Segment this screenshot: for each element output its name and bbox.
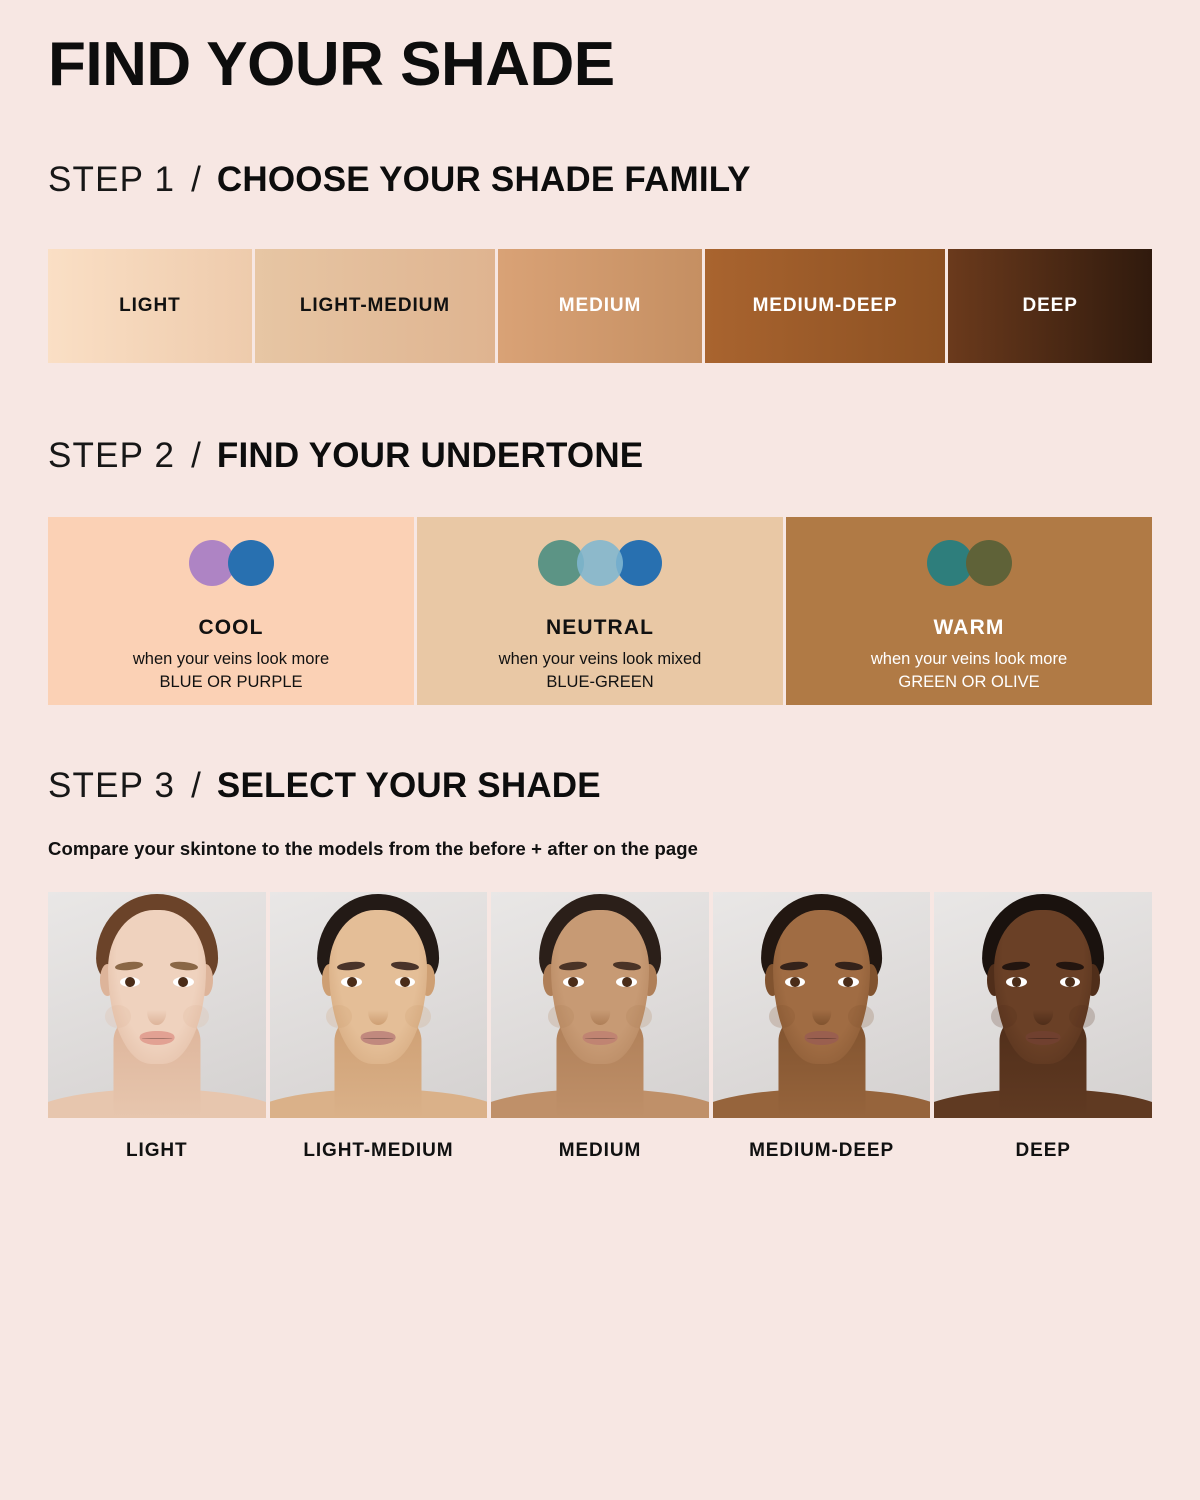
- undertone-panel-neutral[interactable]: NEUTRAL when your veins look mixed BLUE-…: [417, 517, 783, 705]
- model-label-light: LIGHT: [48, 1122, 266, 1162]
- model-label-medium: MEDIUM: [491, 1122, 709, 1162]
- undertone-desc-line1: when your veins look more: [871, 650, 1067, 668]
- shade-swatch-label: MEDIUM-DEEP: [753, 295, 898, 317]
- step-2-separator: /: [191, 436, 201, 476]
- undertone-desc-line1: when your veins look more: [133, 650, 329, 668]
- model-portrait-image: [270, 892, 488, 1118]
- light-blue-dot-icon: [577, 540, 623, 586]
- step-2-heading: STEP 2 / FIND YOUR UNDERTONE: [48, 436, 643, 476]
- undertone-panel-warm[interactable]: WARM when your veins look more GREEN OR …: [786, 517, 1152, 705]
- model-label-medium-deep: MEDIUM-DEEP: [713, 1122, 931, 1162]
- shade-swatch-light-medium[interactable]: LIGHT-MEDIUM: [255, 249, 495, 363]
- model-label-deep: DEEP: [934, 1122, 1152, 1162]
- undertone-desc-line2: BLUE OR PURPLE: [133, 671, 329, 694]
- undertone-panels: COOL when your veins look more BLUE OR P…: [48, 517, 1152, 705]
- model-label-row: LIGHT LIGHT-MEDIUM MEDIUM MEDIUM-DEEP DE…: [48, 1122, 1152, 1162]
- undertone-description: when your veins look mixed BLUE-GREEN: [499, 648, 702, 694]
- shade-swatch-light[interactable]: LIGHT: [48, 249, 252, 363]
- model-portrait-image: [934, 892, 1152, 1118]
- step-1-title: CHOOSE YOUR SHADE FAMILY: [217, 160, 751, 200]
- step-3-title: SELECT YOUR SHADE: [217, 766, 601, 806]
- model-photo-medium-deep[interactable]: [713, 892, 931, 1118]
- model-photo-medium[interactable]: [491, 892, 709, 1118]
- model-portrait-image: [491, 892, 709, 1118]
- step-1-heading: STEP 1 / CHOOSE YOUR SHADE FAMILY: [48, 160, 751, 200]
- model-portrait-image: [713, 892, 931, 1118]
- shade-swatch-label: LIGHT-MEDIUM: [300, 295, 450, 317]
- model-photo-light[interactable]: [48, 892, 266, 1118]
- blue-dot-icon: [228, 540, 274, 586]
- shade-swatch-label: MEDIUM: [559, 295, 641, 317]
- olive-dot-icon: [966, 540, 1012, 586]
- step-1-label: STEP 1: [48, 160, 175, 200]
- shade-swatch-label: LIGHT: [119, 295, 181, 317]
- step-1-separator: /: [191, 160, 201, 200]
- undertone-desc-line2: GREEN OR OLIVE: [871, 671, 1067, 694]
- model-label-light-medium: LIGHT-MEDIUM: [270, 1122, 488, 1162]
- model-photo-row: [48, 892, 1152, 1118]
- undertone-desc-line1: when your veins look mixed: [499, 650, 702, 668]
- shade-swatch-label: DEEP: [1022, 295, 1077, 317]
- step-2-title: FIND YOUR UNDERTONE: [217, 436, 643, 476]
- undertone-description: when your veins look more BLUE OR PURPLE: [133, 648, 329, 694]
- model-photo-light-medium[interactable]: [270, 892, 488, 1118]
- compare-note: Compare your skintone to the models from…: [48, 838, 698, 860]
- undertone-name: WARM: [934, 616, 1005, 640]
- model-portrait-image: [48, 892, 266, 1118]
- step-3-label: STEP 3: [48, 766, 175, 806]
- cool-dot-group: [189, 540, 274, 586]
- step-2-label: STEP 2: [48, 436, 175, 476]
- shade-swatch-medium[interactable]: MEDIUM: [498, 249, 702, 363]
- undertone-panel-cool[interactable]: COOL when your veins look more BLUE OR P…: [48, 517, 414, 705]
- shade-swatch-medium-deep[interactable]: MEDIUM-DEEP: [705, 249, 945, 363]
- page-title: FIND YOUR SHADE: [48, 34, 615, 96]
- shade-family-bar: LIGHT LIGHT-MEDIUM MEDIUM MEDIUM-DEEP DE…: [48, 249, 1152, 363]
- undertone-name: COOL: [198, 616, 263, 640]
- undertone-name: NEUTRAL: [546, 616, 654, 640]
- step-3-heading: STEP 3 / SELECT YOUR SHADE: [48, 766, 601, 806]
- step-3-separator: /: [191, 766, 201, 806]
- find-your-shade-page: FIND YOUR SHADE STEP 1 / CHOOSE YOUR SHA…: [0, 0, 1200, 1500]
- warm-dot-group: [927, 540, 1012, 586]
- shade-swatch-deep[interactable]: DEEP: [948, 249, 1152, 363]
- undertone-desc-line2: BLUE-GREEN: [499, 671, 702, 694]
- neutral-dot-group: [538, 540, 662, 586]
- model-photo-deep[interactable]: [934, 892, 1152, 1118]
- undertone-description: when your veins look more GREEN OR OLIVE: [871, 648, 1067, 694]
